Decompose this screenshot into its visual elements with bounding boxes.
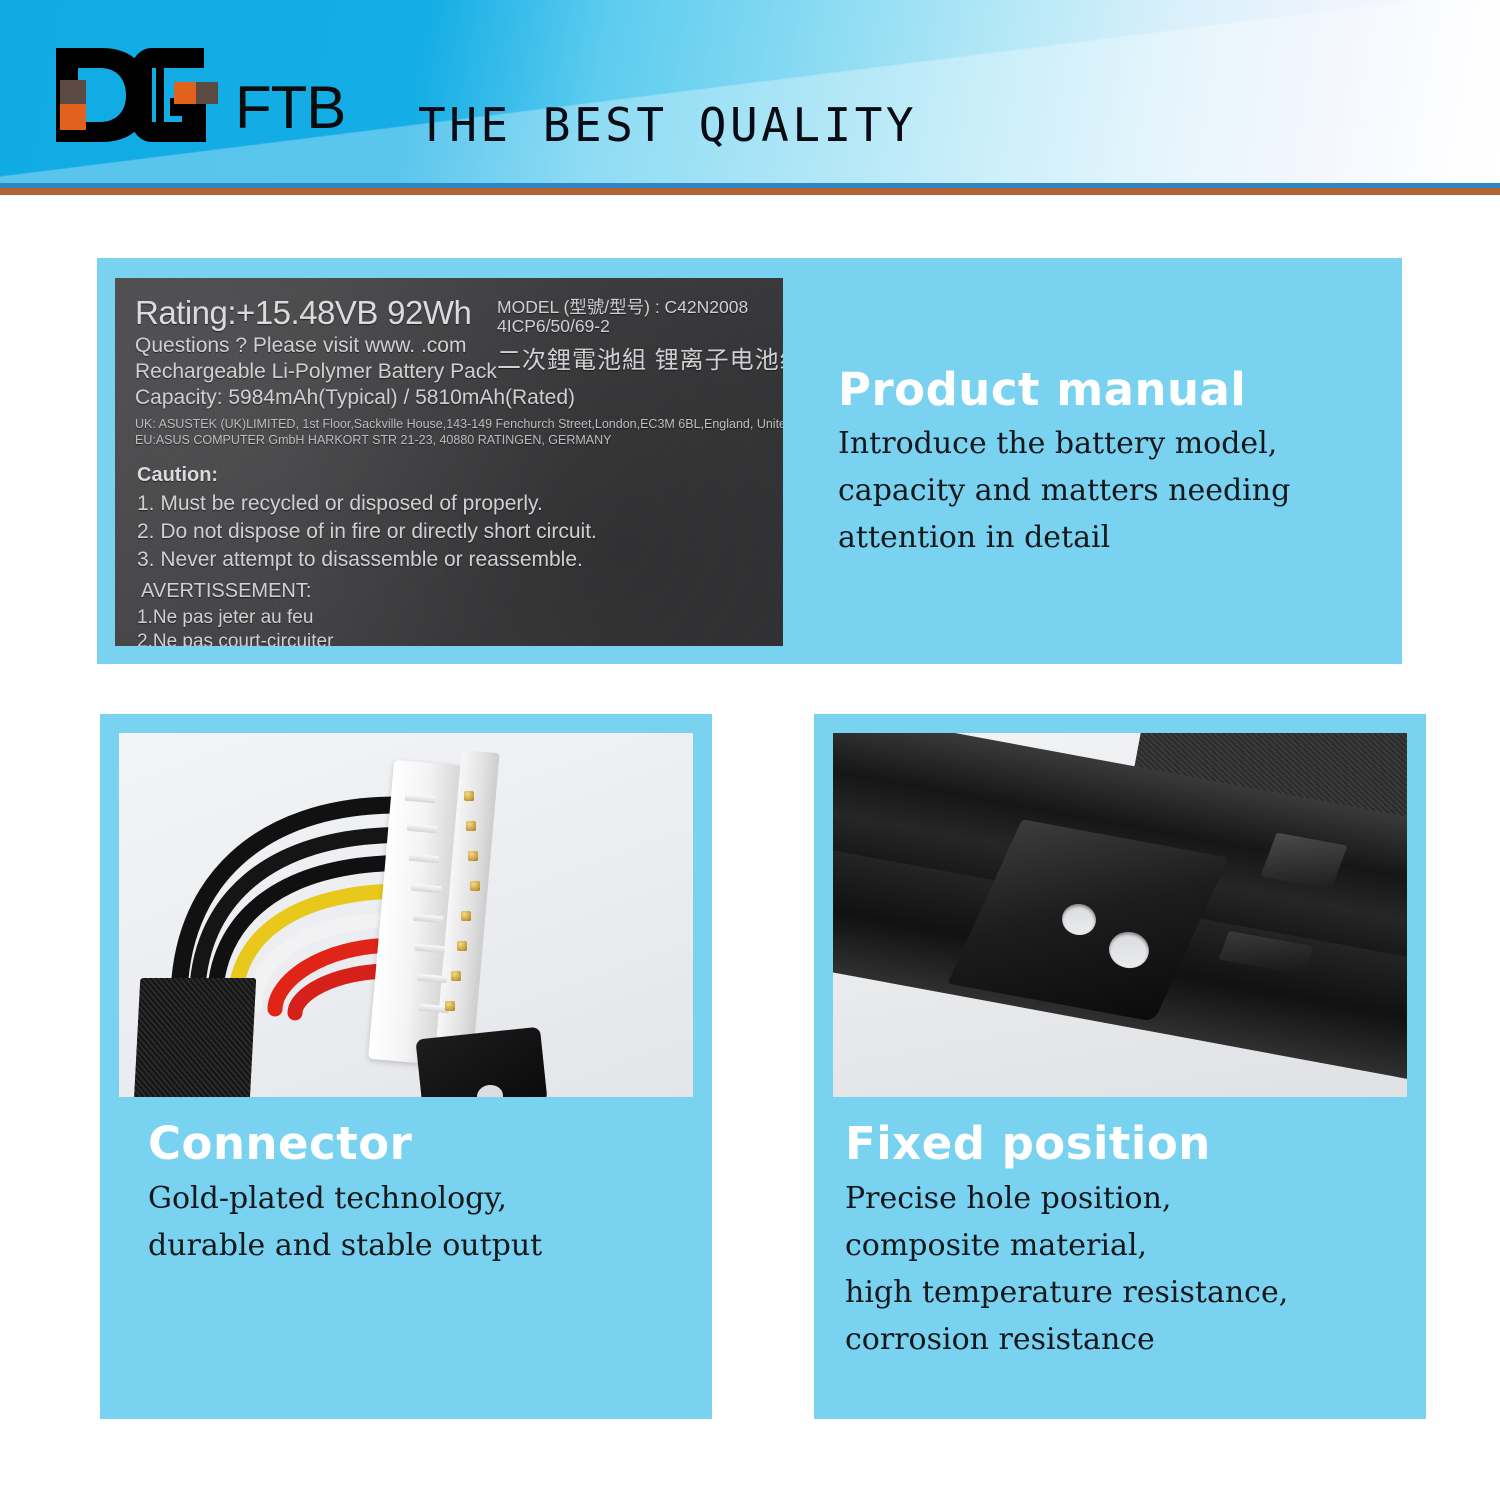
panel-body-line: composite material,: [845, 1222, 1385, 1269]
label-capacity: Capacity: 5984mAh(Typical) / 5810mAh(Rat…: [135, 386, 575, 410]
gold-plated-contact: [445, 1001, 455, 1011]
gold-plated-contact: [470, 881, 480, 891]
gold-plated-contact: [461, 911, 471, 921]
panel-connector: [100, 714, 712, 1419]
panel-title-fixed-position: Fixed position: [845, 1117, 1211, 1170]
gold-plated-contact: [468, 851, 478, 861]
panel-body-fixed-position: Precise hole position, composite materia…: [845, 1175, 1385, 1363]
panel-body-line: attention in detail: [838, 514, 1358, 561]
label-watt-hours: 92Wh: [387, 294, 471, 331]
label-rating-line: Rating:+15.48VΒ 92Wh: [135, 294, 471, 332]
cable-sleeve: [134, 978, 257, 1097]
logo-wordmark: FTB: [235, 78, 345, 138]
panel-body-product-manual: Introduce the battery model, capacity an…: [838, 420, 1358, 561]
connector-photo: [119, 733, 693, 1097]
panel-body-line: Introduce the battery model,: [838, 420, 1358, 467]
label-caution-item: 2. Do not dispose of in fire or directly…: [137, 520, 597, 544]
label-caution-item: 1. Must be recycled or disposed of prope…: [137, 492, 543, 516]
label-eu-address: EU:ASUS COMPUTER GmbH HARKORT STR 21-23,…: [135, 433, 612, 447]
panel-body-line: Gold-plated technology,: [148, 1175, 678, 1222]
gold-plated-contact: [457, 941, 467, 951]
battery-label-photo: Rating:+15.48VΒ 92Wh Questions ? Please …: [115, 278, 783, 646]
gold-plated-contact: [466, 821, 476, 831]
label-uk-address: UK: ASUSTEK (UK)LIMITED, 1st Floor,Sackv…: [135, 417, 783, 431]
panel-body-connector: Gold-plated technology, durable and stab…: [148, 1175, 678, 1269]
brand-logo: FTB: [52, 46, 352, 144]
header-headline: THE BEST QUALITY: [418, 98, 917, 152]
header-divider-orange: [0, 188, 1500, 195]
label-rating-value: Rating:+15.48V: [135, 294, 356, 331]
label-chinese-text: 二次鋰電池組 锂离子电池组: [497, 340, 783, 375]
panel-title-product-manual: Product manual: [838, 363, 1246, 416]
label-questions: Questions ? Please visit www. .com: [135, 334, 466, 358]
panel-body-line: high temperature resistance,: [845, 1269, 1385, 1316]
label-caution-heading: Caution:: [137, 464, 218, 487]
label-avertissement-item: 2.Ne pas court-circuiter: [137, 631, 333, 646]
fixed-position-photo: [833, 733, 1407, 1097]
panel-body-line: durable and stable output: [148, 1222, 678, 1269]
panel-body-line: Precise hole position,: [845, 1175, 1385, 1222]
label-chemistry: Rechargeable Li-Polymer Battery Pack: [135, 360, 497, 384]
label-avertissement-heading: AVERTISSEMENT:: [141, 580, 311, 603]
panel-body-line: capacity and matters needing: [838, 467, 1358, 514]
label-caution-item: 3. Never attempt to disassemble or reass…: [137, 548, 583, 572]
dg-logo-icon: [52, 46, 234, 144]
panel-title-connector: Connector: [148, 1117, 412, 1170]
gold-plated-contact: [464, 791, 474, 801]
label-cell-code: 4ICP6/50/69-2: [497, 316, 610, 337]
gold-plated-contact: [451, 971, 461, 981]
label-avertissement-item: 1.Ne pas jeter au feu: [137, 607, 313, 629]
panel-body-line: corrosion resistance: [845, 1316, 1385, 1363]
